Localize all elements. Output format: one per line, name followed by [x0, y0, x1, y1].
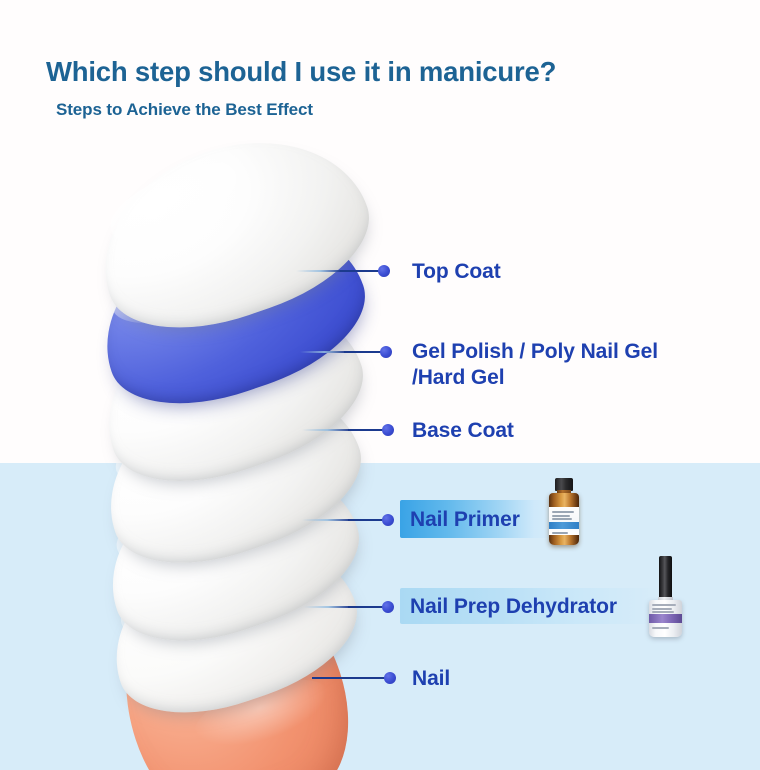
bottle-label-text-line: [552, 515, 570, 517]
connector-dot: [384, 672, 396, 684]
callout-label-nail-primer[interactable]: Nail Primer: [410, 507, 520, 533]
product-bottle-nail-prep-dehydrator[interactable]: [645, 556, 687, 638]
connector-faint-segment: [302, 429, 348, 431]
connector-nail-primer: [302, 513, 398, 527]
bottle-label-text-line: [652, 604, 676, 606]
connector-faint-segment: [296, 270, 340, 272]
bottle-label-text-line: [652, 608, 672, 610]
callout-label-gel-polish[interactable]: Gel Polish / Poly Nail Gel /Hard Gel: [412, 339, 712, 390]
bottle-label-text-line: [552, 511, 574, 513]
connector-base-coat: [302, 423, 398, 437]
connector-faint-segment: [300, 351, 344, 353]
connector-faint-segment: [302, 519, 348, 521]
connector-dot: [382, 514, 394, 526]
bottle-label-text-line: [552, 518, 572, 520]
callout-label-nail-prep-dehydrator[interactable]: Nail Prep Dehydrator: [410, 594, 617, 620]
infographic-canvas: Which step should I use it in manicure? …: [0, 0, 760, 770]
connector-dot: [382, 424, 394, 436]
bottle-label-text-line: [552, 532, 568, 534]
connector-dot: [378, 265, 390, 277]
connector-gel-polish: [300, 345, 396, 359]
bottle-label-text-line: [652, 611, 674, 613]
bottle-label-band: [649, 614, 682, 623]
connector-nail: [312, 671, 408, 685]
bottle-cap: [659, 556, 672, 598]
callout-label-nail[interactable]: Nail: [412, 666, 450, 692]
product-bottle-nail-primer[interactable]: [544, 478, 584, 546]
connector-top-coat: [296, 264, 392, 278]
connector-dot: [380, 346, 392, 358]
bottle-label-band: [549, 522, 579, 529]
connector-faint-segment: [304, 606, 348, 608]
bottle-label-text-line: [652, 627, 669, 629]
callout-label-base-coat[interactable]: Base Coat: [412, 418, 514, 444]
layer-gloss: [100, 144, 281, 262]
callout-label-top-coat[interactable]: Top Coat: [412, 259, 501, 285]
connector-solid-segment: [312, 677, 390, 679]
connector-nail-prep-dehydrator: [304, 600, 400, 614]
connector-dot: [382, 601, 394, 613]
